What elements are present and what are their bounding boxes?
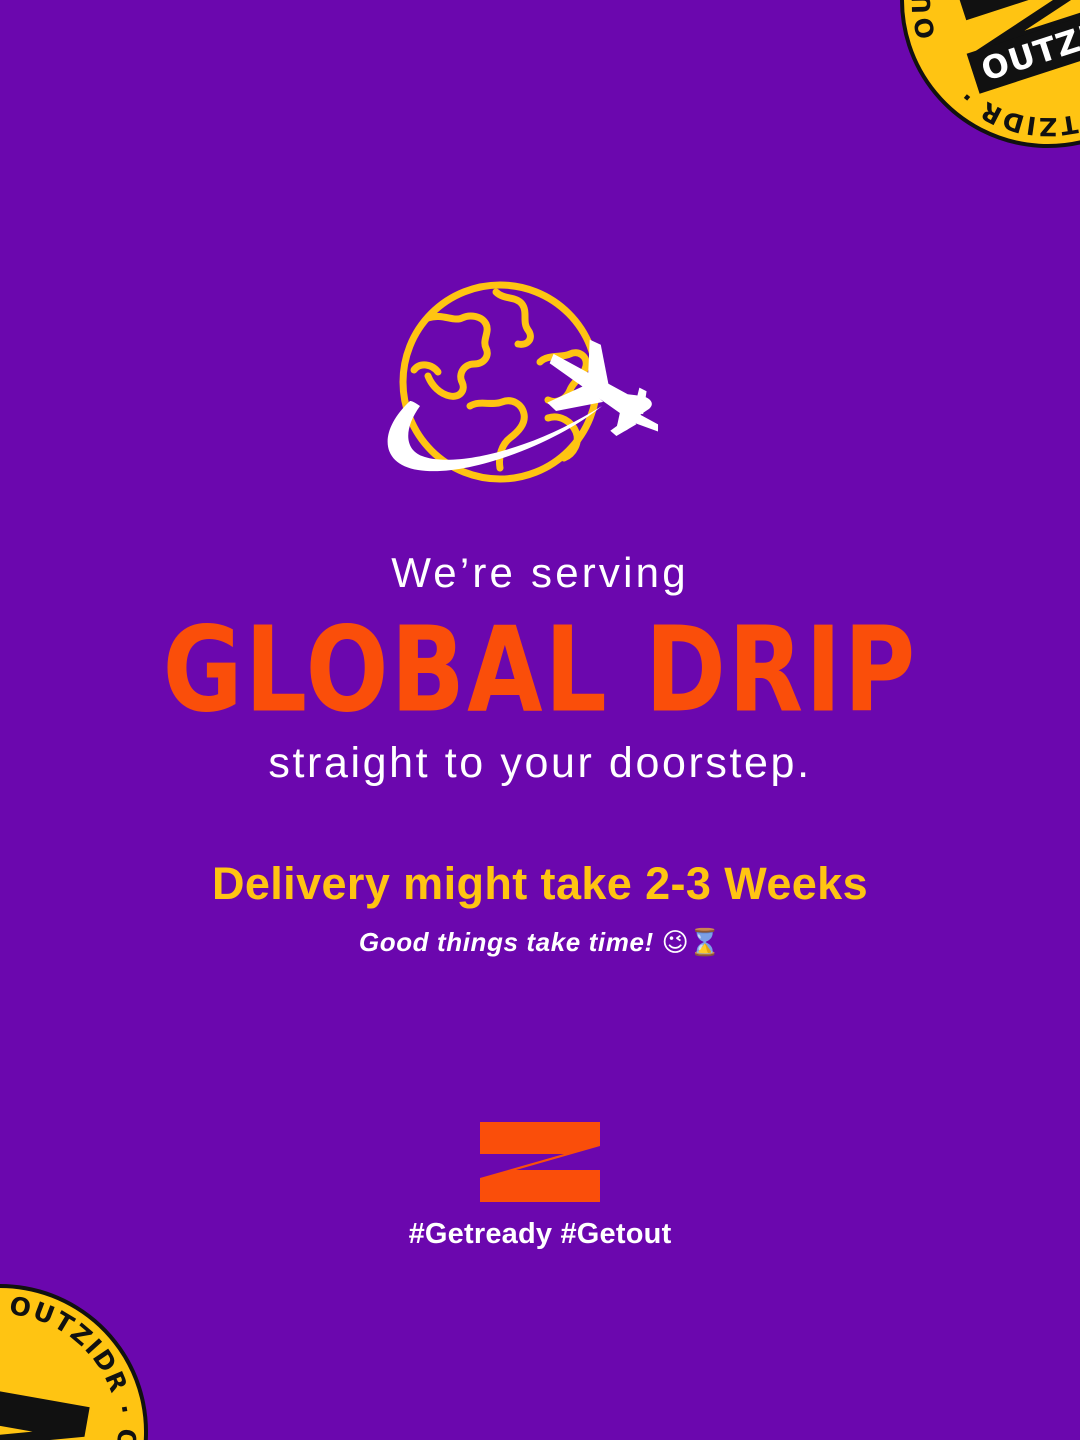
globe-airplane-illustration [370, 278, 710, 508]
headline-text: GLOBAL DRIP [0, 612, 1080, 730]
footer-lockup: #Getready #Getout [0, 1120, 1080, 1251]
airplane-icon [528, 326, 681, 465]
globe-icon [403, 285, 597, 479]
promo-poster: OUTZIDR · OUTZIDR · OUTZIDR · OUTZIDR · … [0, 0, 1080, 1440]
wink-hourglass-emoji: 😉⌛ [662, 928, 721, 958]
outzidr-badge-top-right: OUTZIDR · OUTZIDR · OUTZIDR · OUTZIDR · … [859, 0, 1080, 189]
reassurance-text: Good things take time! [359, 927, 654, 957]
delivery-note-text: Delivery might take 2-3 Weeks [0, 857, 1080, 911]
outzidr-z-logo [478, 1120, 602, 1204]
copy-block: We’re serving GLOBAL DRIP straight to yo… [0, 548, 1080, 959]
eyebrow-text: We’re serving [0, 548, 1080, 598]
reassurance-note: Good things take time! 😉⌛ [0, 927, 1080, 959]
outzidr-badge-bottom-left: OUTZIDR · OUTZIDR · OUTZIDR · OUTZIDR · … [0, 1258, 174, 1440]
hashtags-text: #Getready #Getout [0, 1218, 1080, 1251]
subheadline-text: straight to your doorstep. [0, 738, 1080, 790]
